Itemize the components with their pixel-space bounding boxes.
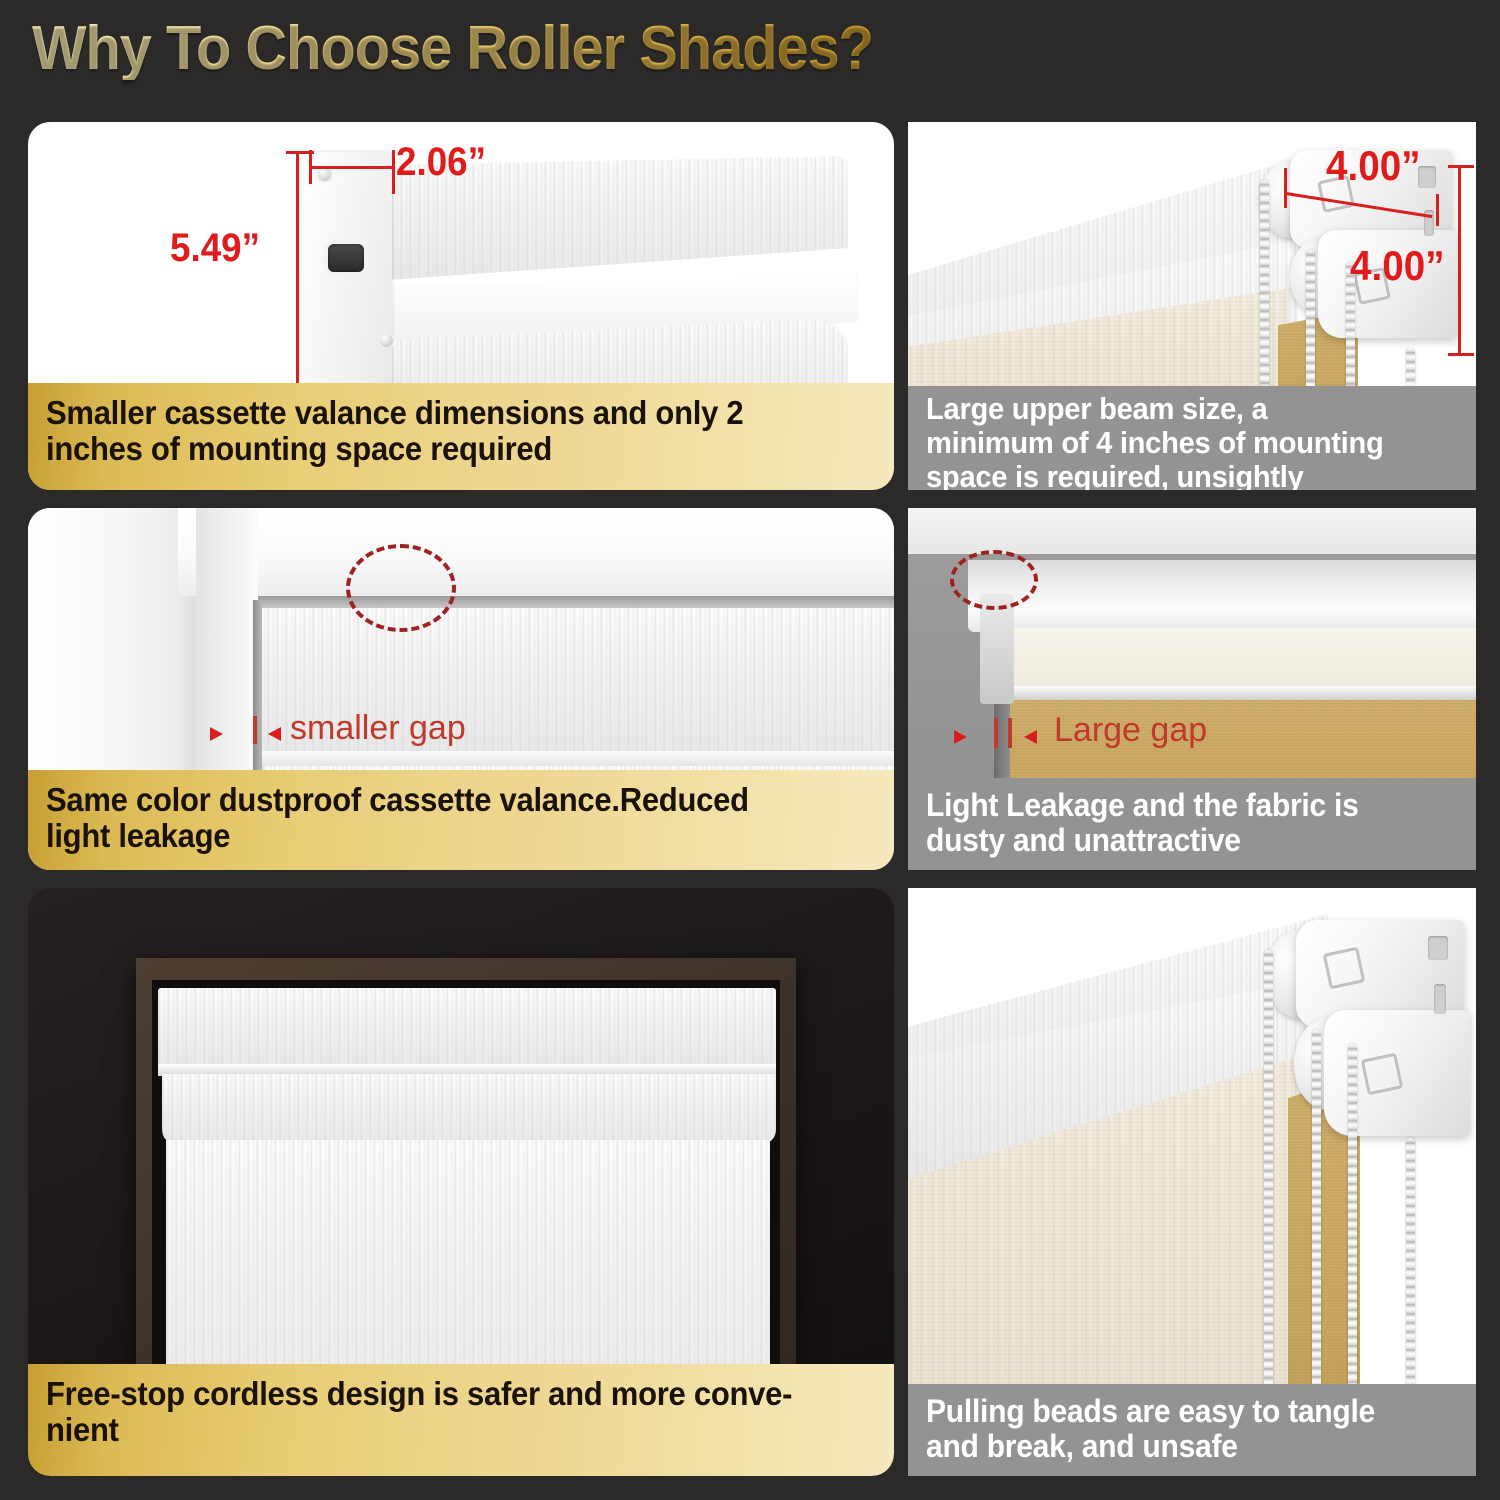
bracket-emboss-upper	[1323, 947, 1366, 990]
panel-5-caption: Free-stop cordless design is safer and m…	[28, 1364, 894, 1476]
valance-cassette	[158, 988, 776, 1070]
panel-pulling-beads-tangle-risk: Pulling beads are easy to tangle and bre…	[908, 888, 1476, 1476]
large-gap-marker-bar-1	[994, 718, 998, 748]
large-gap-label: Large gap	[1054, 711, 1207, 750]
panel-4-caption-line-2: dusty and unattractive	[926, 823, 1426, 858]
gap-arrow-left	[210, 727, 223, 741]
beam-width-tick-right	[1436, 194, 1439, 226]
panel-5-caption-line-2: nient	[46, 1412, 826, 1448]
height-dimension-label: 5.49”	[170, 226, 260, 271]
width-dimension-line	[310, 166, 395, 169]
width-tick-right	[392, 150, 395, 194]
bracket-slot-top	[1428, 936, 1448, 960]
large-gap-arrow-right	[1024, 730, 1037, 744]
beam-height-dimension-line	[1458, 166, 1461, 356]
panel-6-caption: Pulling beads are easy to tangle and bre…	[908, 1384, 1476, 1476]
gap-marker-bar	[253, 716, 257, 744]
cord-slot	[328, 244, 364, 272]
panel-2-caption-line-2: minimum of 4 inches of mounting	[926, 426, 1426, 460]
panel-4-caption-line-1: Light Leakage and the fabric is	[926, 788, 1426, 823]
beam-height-dimension-label: 4.00”	[1350, 242, 1445, 290]
panel-large-upper-beam: 4.00” 4.00” Large upper beam size, a min…	[908, 122, 1476, 490]
panel-3-caption-line-2: light leakage	[46, 818, 826, 854]
panel-6-caption-line-1: Pulling beads are easy to tangle	[926, 1394, 1426, 1429]
window-casing-top	[178, 508, 894, 596]
large-gap-marker-bar-2	[1008, 718, 1012, 748]
bracket-emboss-lower	[1361, 1053, 1404, 1096]
light-leak-highlight-ellipse	[950, 550, 1038, 610]
panel-free-stop-cordless-design: Free-stop cordless design is safer and m…	[28, 888, 894, 1476]
beam-width-dimension-label: 4.00”	[1326, 142, 1421, 190]
exposed-bracket	[980, 594, 1014, 704]
panel-3-caption: Same color dustproof cassette valance.Re…	[28, 770, 894, 870]
bracket-slot-mid	[1434, 984, 1446, 1014]
comparison-grid: 2.06” 5.49” Smaller cassette valance dim…	[0, 0, 1500, 1500]
beam-height-tick-top	[1448, 165, 1474, 168]
width-tick-left	[309, 150, 312, 184]
headrail-face	[1004, 628, 1476, 690]
panel-cassette-valance-dimensions: 2.06” 5.49” Smaller cassette valance dim…	[28, 122, 894, 490]
panel-light-leakage-dusty-fabric: Large gap Light Leakage and the fabric i…	[908, 508, 1476, 870]
panel-3-caption-line-1: Same color dustproof cassette valance.Re…	[46, 782, 826, 818]
panel-4-caption: Light Leakage and the fabric is dusty an…	[908, 778, 1476, 870]
panel-2-caption-line-3: space is required, unsightly	[926, 460, 1426, 490]
roller-tube-front	[162, 1074, 776, 1144]
width-dimension-label: 2.06”	[396, 140, 486, 185]
beam-width-tick-left	[1284, 168, 1287, 208]
panel-2-caption: Large upper beam size, a minimum of 4 in…	[908, 386, 1476, 490]
mounting-screw-upper	[318, 168, 331, 181]
panel-5-caption-line-1: Free-stop cordless design is safer and m…	[46, 1376, 826, 1412]
panel-dustproof-cassette-valance: smaller gap Same color dustproof cassett…	[28, 508, 894, 870]
panel-6-caption-line-2: and break, and unsafe	[926, 1429, 1426, 1464]
large-gap-arrow-left	[954, 730, 967, 744]
gap-arrow-right	[268, 727, 281, 741]
panel-1-caption-line-2: inches of mounting space required	[46, 431, 826, 467]
panel-1-caption: Smaller cassette valance dimensions and …	[28, 383, 894, 490]
panel-2-caption-line-1: Large upper beam size, a	[926, 392, 1426, 426]
headrail-bottom-lip	[1000, 686, 1476, 700]
ceiling-strip	[908, 508, 1476, 554]
height-tick-top	[286, 151, 314, 154]
headrail-top	[968, 560, 1476, 632]
panel-1-caption-line-1: Smaller cassette valance dimensions and …	[46, 395, 826, 431]
bracket-notch-top	[1418, 166, 1436, 188]
beam-height-tick-bottom	[1448, 353, 1474, 356]
valance-gap-highlight-ellipse	[346, 544, 456, 632]
smaller-gap-label: smaller gap	[290, 709, 466, 748]
mounting-screw-mid	[380, 334, 393, 347]
